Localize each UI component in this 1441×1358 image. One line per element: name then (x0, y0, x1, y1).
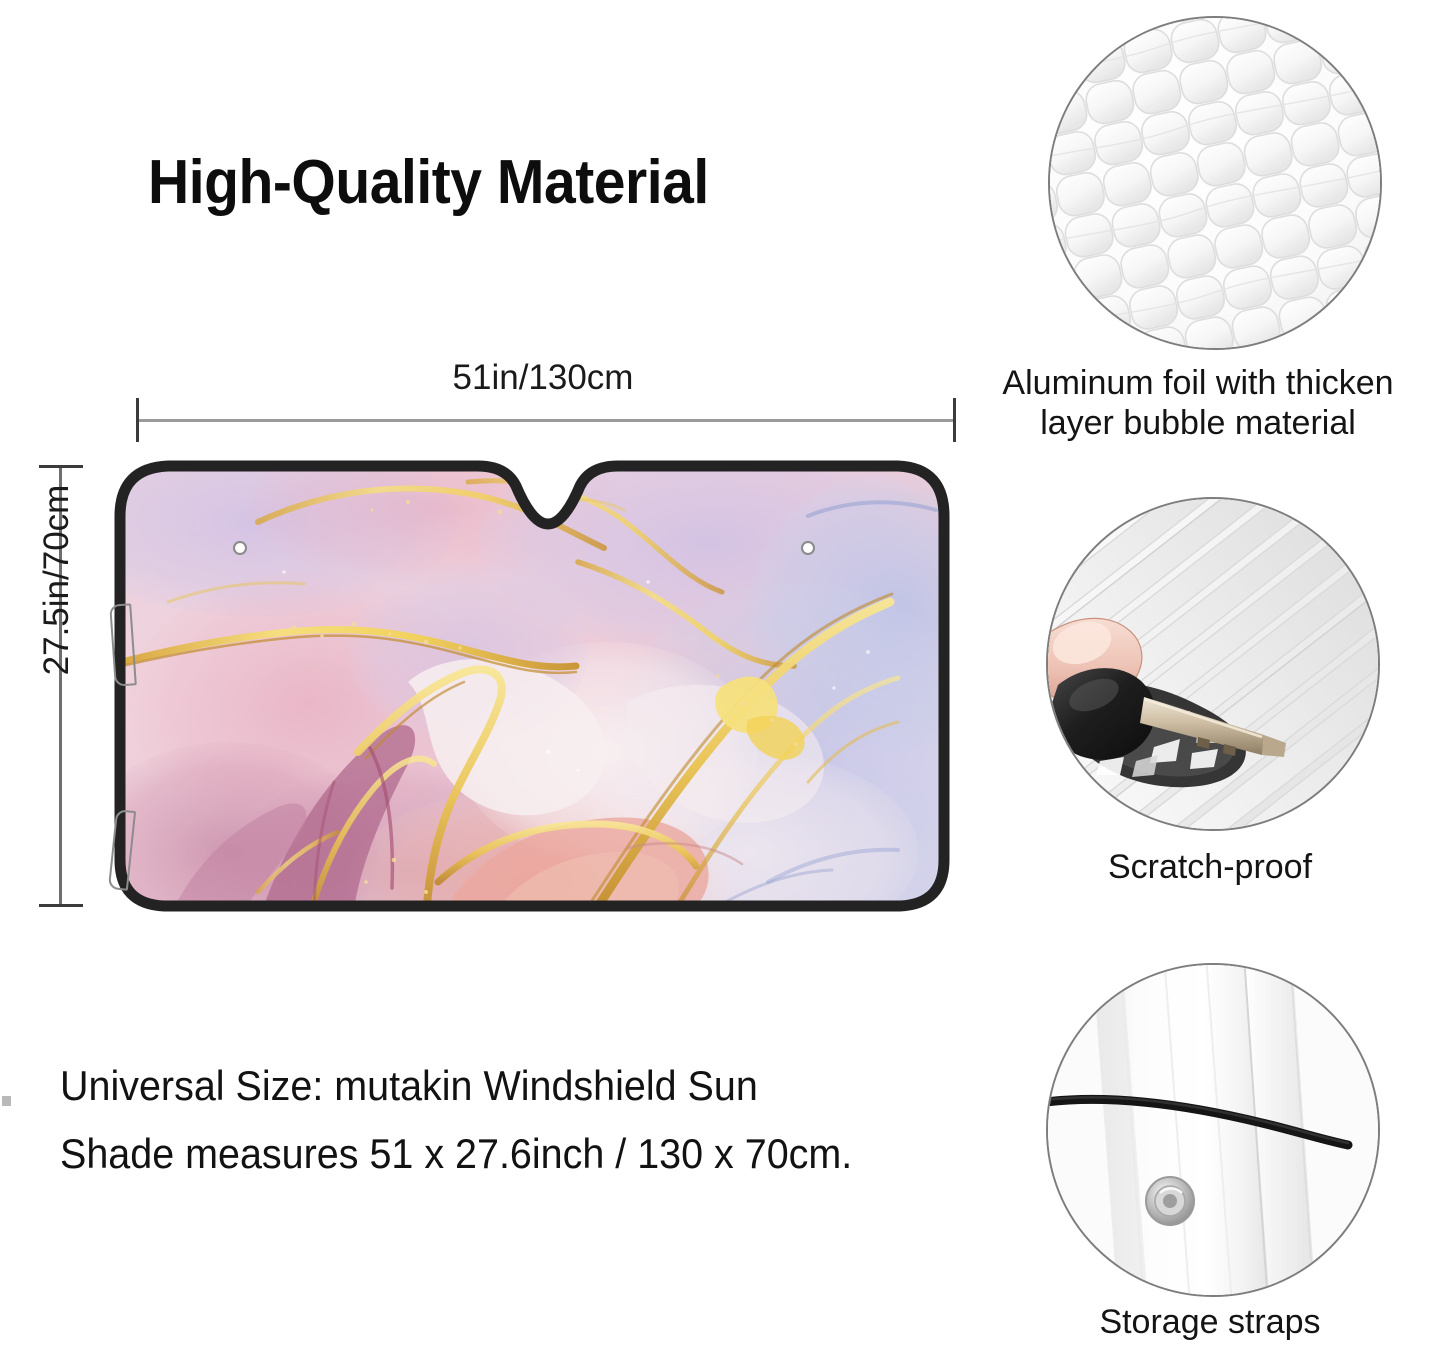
scan-artifact (2, 1096, 11, 1106)
infographic-page: High-Quality Material 51in/130cm 27.5in/… (0, 0, 1441, 1358)
quilted-bubble-texture-illustration (1050, 18, 1380, 348)
sunshade-illustration (108, 452, 956, 922)
rolled-shade-with-strap-illustration (1048, 965, 1378, 1295)
width-tick-left (136, 398, 139, 442)
feature-storage-straps-caption: Storage straps (1030, 1302, 1390, 1342)
caption-line-1: Storage straps (1030, 1302, 1390, 1342)
feature-bubble-material (1048, 16, 1382, 350)
caption-line-2: layer bubble material (955, 403, 1441, 443)
height-tick-bottom (39, 904, 83, 907)
height-dimension-label: 27.5in/70cm (37, 415, 77, 745)
feature-bubble-material-caption: Aluminum foil with thicken layer bubble … (955, 363, 1441, 443)
feature-scratch-proof-caption: Scratch-proof (1030, 847, 1390, 887)
size-description-line-1: Universal Size: mutakin Windshield Sun (60, 1052, 981, 1120)
key-scratching-foil-illustration (1048, 499, 1378, 829)
size-description-line-2: Shade measures 51 x 27.6inch / 130 x 70c… (60, 1120, 981, 1188)
caption-line-1: Aluminum foil with thicken (955, 363, 1441, 403)
size-description: Universal Size: mutakin Windshield Sun S… (60, 1052, 981, 1188)
storage-straps-photo (1046, 963, 1380, 1297)
width-dimension-label: 51in/130cm (130, 358, 956, 398)
page-title: High-Quality Material (148, 152, 709, 214)
bubble-material-photo (1048, 16, 1382, 350)
product-sunshade (108, 452, 956, 922)
feature-scratch-proof (1046, 497, 1380, 831)
feature-storage-straps (1046, 963, 1380, 1297)
width-dimension-line (136, 419, 956, 422)
caption-line-1: Scratch-proof (1030, 847, 1390, 887)
scratch-proof-photo (1046, 497, 1380, 831)
